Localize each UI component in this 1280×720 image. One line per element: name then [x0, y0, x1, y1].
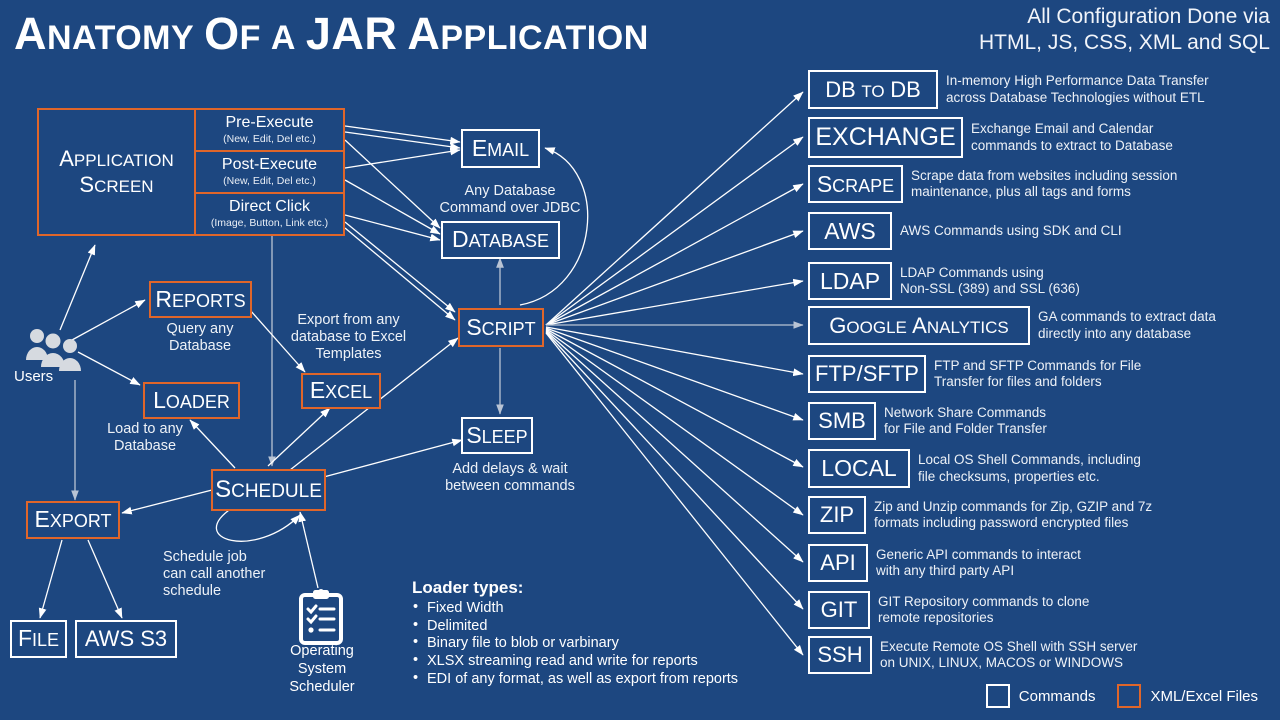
aws-s3-label: AWS S3 [85, 628, 167, 650]
legend-label-commands: Commands [1019, 688, 1096, 705]
loader-types-heading: Loader types: [412, 578, 738, 598]
aws-label: AWS [824, 218, 876, 245]
app-row-pre-execute[interactable]: Pre-Execute (New, Edit, Del etc.) [196, 110, 343, 152]
command-row-scrape[interactable]: SCRAPE Scrape data from websites includi… [808, 165, 1177, 203]
application-screen-title: APPLICATION SCREEN [39, 110, 196, 234]
sleep-note: Add delays & wait between commands [425, 461, 595, 495]
exchange-label: EXCHANGE [815, 123, 955, 152]
command-box-ldap[interactable]: LDAP [808, 262, 892, 300]
command-row-ssh[interactable]: SSH Execute Remote OS Shell with SSH ser… [808, 636, 1137, 674]
node-export[interactable]: EXPORT [26, 501, 120, 539]
ldap-label: LDAP [820, 268, 880, 295]
command-box-api[interactable]: API [808, 544, 868, 582]
reports-note: Query any Database [140, 321, 260, 355]
direct-click-detail: (Image, Button, Link etc.) [211, 217, 328, 230]
zip-label: ZIP [820, 502, 854, 528]
legend-item-commands: Commands [986, 684, 1096, 708]
command-desc-zip: Zip and Unzip commands for Zip, GZIP and… [874, 499, 1152, 531]
email-database-note: Any Database Command over JDBC [420, 183, 600, 217]
ssh-label: SSH [817, 642, 862, 668]
list-item: Fixed Width [412, 600, 738, 618]
legend-swatch-xml-excel [1117, 684, 1141, 708]
node-excel[interactable]: EXCEL [301, 373, 381, 409]
command-desc-ssh: Execute Remote OS Shell with SSH server … [880, 639, 1137, 671]
command-box-exchange[interactable]: EXCHANGE [808, 117, 963, 158]
command-desc-api: Generic API commands to interact with an… [876, 547, 1081, 579]
app-row-post-execute[interactable]: Post-Execute (New, Edit, Del etc.) [196, 152, 343, 194]
legend-label-xml-excel: XML/Excel Files [1150, 688, 1258, 705]
legend-swatch-commands [986, 684, 1010, 708]
command-row-db-to-db[interactable]: DB TO DB In-memory High Performance Data… [808, 70, 1209, 109]
ftp-sftp-label: FTP/SFTP [815, 361, 919, 387]
tagline-line-2: HTML, JS, CSS, XML and SQL [979, 30, 1270, 56]
node-sleep[interactable]: SLEEP [461, 417, 533, 454]
command-desc-local: Local OS Shell Commands, including file … [918, 452, 1141, 484]
users-label: Users [14, 368, 53, 385]
node-email[interactable]: EMAIL [461, 129, 540, 168]
loader-types-block: Loader types: Fixed Width Delimited Bina… [412, 578, 738, 688]
node-database[interactable]: DATABASE [441, 221, 560, 259]
command-desc-git: GIT Repository commands to clone remote … [878, 594, 1089, 626]
loader-types-list: Fixed Width Delimited Binary file to blo… [412, 600, 738, 688]
app-row-direct-click[interactable]: Direct Click (Image, Button, Link etc.) [196, 194, 343, 234]
list-item: XLSX streaming read and write for report… [412, 653, 738, 671]
command-box-aws[interactable]: AWS [808, 212, 892, 250]
command-row-zip[interactable]: ZIP Zip and Unzip commands for Zip, GZIP… [808, 496, 1152, 534]
list-item: Delimited [412, 618, 738, 636]
application-screen-box[interactable]: APPLICATION SCREEN Pre-Execute (New, Edi… [37, 108, 345, 236]
post-execute-label: Post-Execute [222, 157, 317, 174]
node-loader[interactable]: LOADER [143, 382, 240, 419]
command-row-api[interactable]: API Generic API commands to interact wit… [808, 544, 1081, 582]
loader-note: Load to any Database [85, 421, 205, 455]
header-tagline: All Configuration Done via HTML, JS, CSS… [979, 4, 1270, 57]
command-box-smb[interactable]: SMB [808, 402, 876, 440]
legend-item-xml-excel: XML/Excel Files [1117, 684, 1258, 708]
command-row-smb[interactable]: SMB Network Share Commands for File and … [808, 402, 1047, 440]
excel-note: Export from any database to Excel Templa… [281, 312, 416, 363]
command-desc-ldap: LDAP Commands using Non-SSL (389) and SS… [900, 265, 1080, 297]
command-box-ssh[interactable]: SSH [808, 636, 872, 674]
node-reports[interactable]: REPORTS [149, 281, 252, 318]
api-label: API [820, 550, 855, 576]
command-box-git[interactable]: GIT [808, 591, 870, 629]
command-row-exchange[interactable]: EXCHANGE Exchange Email and Calendar com… [808, 117, 1173, 158]
pre-execute-detail: (New, Edit, Del etc.) [223, 133, 316, 146]
post-execute-detail: (New, Edit, Del etc.) [223, 175, 316, 188]
command-desc-ftp-sftp: FTP and SFTP Commands for File Transfer … [934, 358, 1141, 390]
node-script[interactable]: SCRIPT [458, 308, 544, 347]
command-row-ftp-sftp[interactable]: FTP/SFTP FTP and SFTP Commands for File … [808, 355, 1141, 393]
command-row-google-analytics[interactable]: GOOGLE ANALYTICS GA commands to extract … [808, 306, 1216, 345]
command-row-ldap[interactable]: LDAP LDAP Commands using Non-SSL (389) a… [808, 262, 1080, 300]
legend: Commands XML/Excel Files [986, 684, 1258, 708]
command-box-local[interactable]: LOCAL [808, 449, 910, 488]
command-desc-google-analytics: GA commands to extract data directly int… [1038, 309, 1216, 341]
os-scheduler-label: Operating System Scheduler [272, 642, 372, 696]
command-desc-scrape: Scrape data from websites including sess… [911, 168, 1177, 200]
list-item: Binary file to blob or varbinary [412, 635, 738, 653]
command-desc-smb: Network Share Commands for File and Fold… [884, 405, 1047, 437]
command-desc-db-to-db: In-memory High Performance Data Transfer… [946, 73, 1209, 105]
command-row-local[interactable]: LOCAL Local OS Shell Commands, including… [808, 449, 1141, 488]
git-label: GIT [821, 597, 858, 623]
diagram-canvas: ANATOMY OF A JAR APPLICATION All Configu… [0, 0, 1280, 720]
local-label: LOCAL [821, 455, 896, 482]
command-desc-aws: AWS Commands using SDK and CLI [900, 223, 1122, 239]
command-box-scrape[interactable]: SCRAPE [808, 165, 903, 203]
command-row-aws[interactable]: AWS AWS Commands using SDK and CLI [808, 212, 1122, 250]
page-title: ANATOMY OF A JAR APPLICATION [14, 8, 649, 60]
command-box-ftp-sftp[interactable]: FTP/SFTP [808, 355, 926, 393]
node-file[interactable]: FILE [10, 620, 67, 658]
smb-label: SMB [818, 408, 866, 434]
direct-click-label: Direct Click [229, 199, 310, 216]
command-row-git[interactable]: GIT GIT Repository commands to clone rem… [808, 591, 1089, 629]
tagline-line-1: All Configuration Done via [979, 4, 1270, 30]
command-desc-exchange: Exchange Email and Calendar commands to … [971, 121, 1173, 153]
node-schedule[interactable]: SCHEDULE [211, 469, 326, 511]
pre-execute-label: Pre-Execute [225, 115, 313, 132]
command-box-zip[interactable]: ZIP [808, 496, 866, 534]
list-item: EDI of any format, as well as export fro… [412, 671, 738, 689]
node-aws-s3[interactable]: AWS S3 [75, 620, 177, 658]
command-box-google-analytics[interactable]: GOOGLE ANALYTICS [808, 306, 1030, 345]
command-box-db-to-db[interactable]: DB TO DB [808, 70, 938, 109]
schedule-note: Schedule job can call another schedule [163, 549, 313, 600]
